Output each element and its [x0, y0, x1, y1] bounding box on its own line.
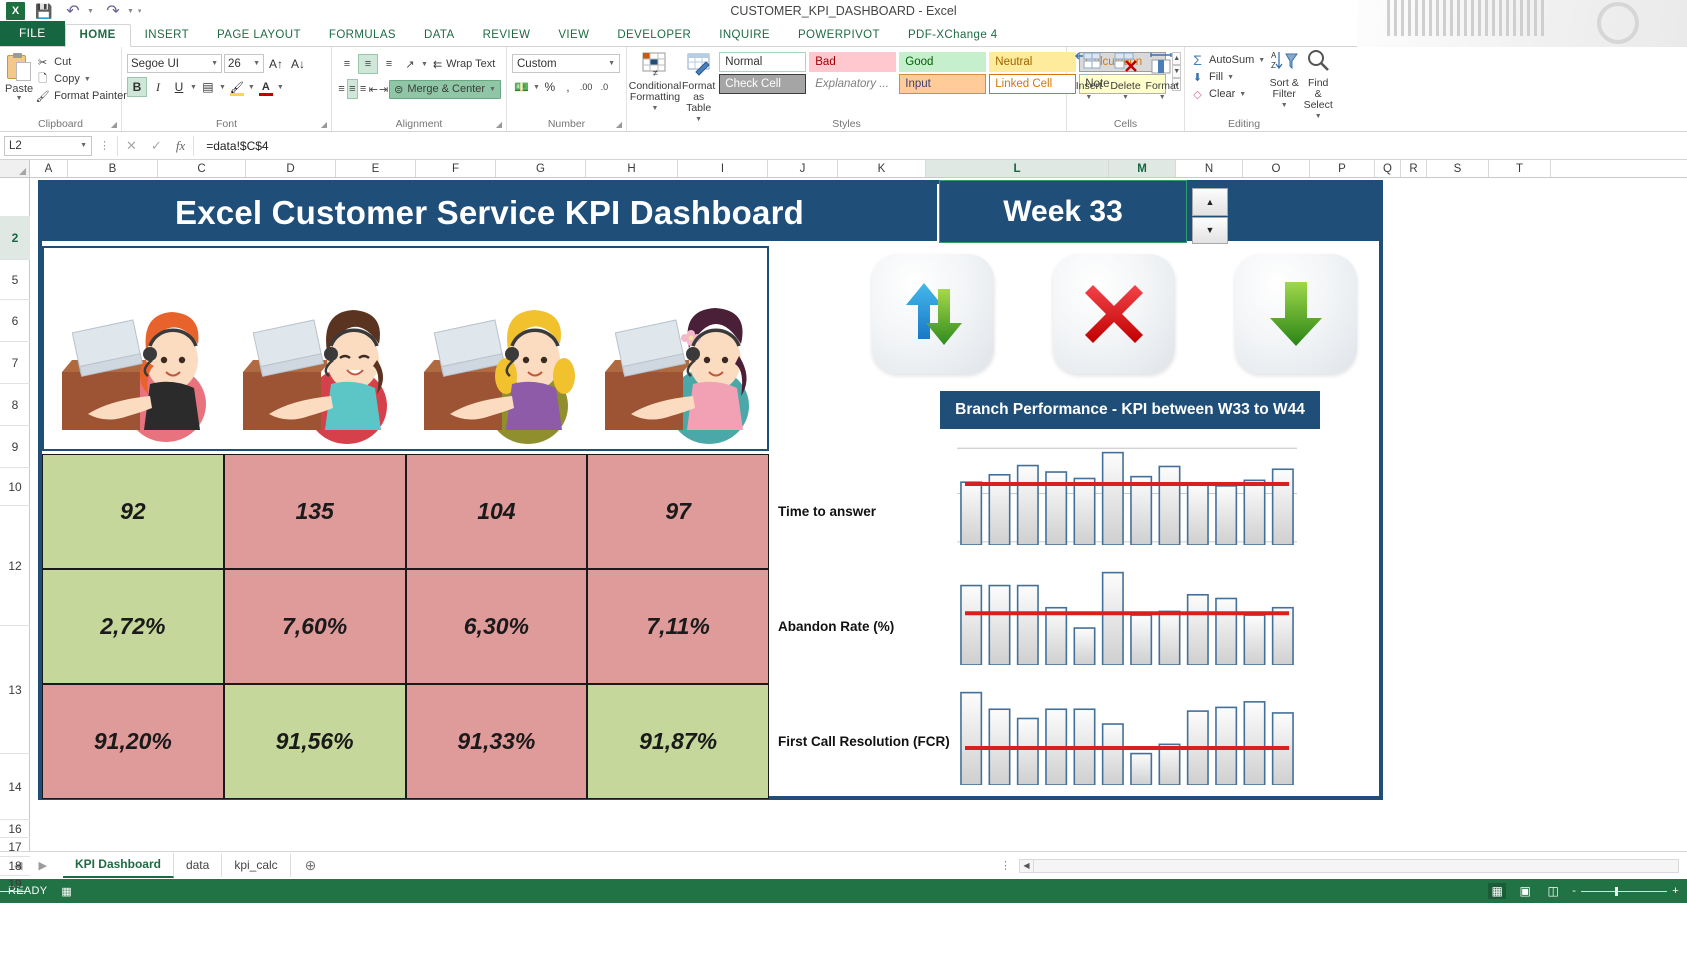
- column-header-a[interactable]: A: [30, 160, 68, 177]
- add-sheet-icon[interactable]: ⊕: [291, 857, 331, 874]
- accounting-dropdown-icon[interactable]: ▼: [533, 84, 540, 91]
- number-dialog-launcher-icon[interactable]: ◢: [616, 120, 622, 129]
- row-header-7[interactable]: 7: [0, 342, 30, 384]
- column-header-d[interactable]: D: [246, 160, 336, 177]
- insert-cells-button[interactable]: Insert ▼: [1072, 52, 1106, 103]
- sheet-tab-bar: ◀ ▶ KPI Dashboard data kpi_calc ⊕ ⋮ ◀: [0, 851, 1687, 879]
- font-color-icon[interactable]: A: [256, 77, 276, 97]
- copy-label: Copy: [54, 73, 80, 85]
- decrease-font-size-icon[interactable]: A↓: [288, 54, 308, 73]
- row-header-16[interactable]: 16: [0, 820, 30, 838]
- hscroll-left-icon[interactable]: ◀: [1020, 860, 1034, 872]
- align-middle-icon[interactable]: ≡: [358, 54, 378, 74]
- sheet-tab-data[interactable]: data: [174, 854, 222, 877]
- name-box-dropdown-icon[interactable]: ▼: [80, 142, 87, 149]
- alignment-dialog-launcher-icon[interactable]: ◢: [496, 120, 502, 129]
- cell-style-check-cell[interactable]: Check Cell: [719, 74, 806, 94]
- column-header-row: ABCDEFGHIJKLMNOPQRST: [0, 160, 1687, 178]
- eraser-icon: ◇: [1190, 87, 1205, 101]
- format-painter-label: Format Painter: [54, 90, 127, 102]
- font-color-dropdown-icon[interactable]: ▼: [277, 84, 284, 91]
- font-size-value: 26: [228, 58, 241, 70]
- number-group-label: Number: [507, 118, 626, 130]
- title-bar: X 💾 ↶ ▼ ↷ ▼ ▾ CUSTOMER_KPI_DASHBOARD - E…: [0, 0, 1687, 22]
- column-header-o[interactable]: O: [1243, 160, 1310, 177]
- increase-decimal-button[interactable]: .00: [578, 77, 595, 97]
- dashboard-title: Excel Customer Service KPI Dashboard: [42, 184, 937, 241]
- styles-group-label: Styles: [627, 118, 1066, 130]
- tab-pdf-xchange[interactable]: PDF-XChange 4: [894, 25, 1012, 46]
- svg-text:A: A: [1271, 51, 1277, 60]
- kpi-row-0: 9213510497: [42, 454, 769, 569]
- sort-filter-icon: A Z: [1269, 49, 1299, 77]
- tab-inquire[interactable]: INQUIRE: [705, 25, 784, 46]
- sheet-canvas[interactable]: Excel Customer Service KPI Dashboard Wee…: [30, 178, 1687, 851]
- align-bottom-icon[interactable]: ≡: [379, 54, 399, 74]
- cells-group-label: Cells: [1067, 118, 1184, 130]
- insert-dropdown-icon[interactable]: ▼: [1085, 92, 1092, 103]
- decrease-indent-icon[interactable]: ⇤: [369, 79, 378, 99]
- column-header-n[interactable]: N: [1176, 160, 1243, 177]
- autosum-dropdown-icon[interactable]: ▼: [1258, 57, 1265, 64]
- wrap-text-label: Wrap Text: [446, 58, 495, 70]
- magnifier-icon: [1303, 49, 1333, 77]
- kpi-label-0: Time to answer: [775, 454, 985, 569]
- horizontal-scrollbar[interactable]: ◀: [1019, 859, 1679, 873]
- kpi-cell-r1-c1[interactable]: 7,60%: [224, 569, 406, 684]
- customize-qat-icon[interactable]: ▾: [138, 7, 142, 15]
- autosum-button[interactable]: Σ AutoSum ▼: [1190, 53, 1265, 67]
- delete-dropdown-icon[interactable]: ▼: [1122, 92, 1129, 103]
- align-top-icon[interactable]: ≡: [337, 54, 357, 74]
- clear-dropdown-icon[interactable]: ▼: [1239, 91, 1246, 98]
- format-as-table-label: Format as Table: [682, 81, 715, 114]
- font-name-dropdown-icon[interactable]: ▼: [211, 60, 218, 67]
- kpi-cell-r2-c1[interactable]: 91,56%: [224, 684, 406, 799]
- insert-label: Insert: [1076, 81, 1102, 92]
- column-header-r[interactable]: R: [1401, 160, 1427, 177]
- font-size-dropdown-icon[interactable]: ▼: [253, 60, 260, 67]
- column-header-c[interactable]: C: [158, 160, 246, 177]
- autosum-label: AutoSum: [1209, 54, 1254, 66]
- orientation-icon[interactable]: ↗: [400, 54, 420, 74]
- agent-avatar-1: [54, 264, 214, 449]
- font-dialog-launcher-icon[interactable]: ◢: [321, 120, 327, 129]
- clear-button[interactable]: ◇ Clear ▼: [1190, 87, 1265, 101]
- tab-data[interactable]: DATA: [410, 25, 469, 46]
- kpi-cell-r0-c0[interactable]: 92: [42, 454, 224, 569]
- format-label: Format: [1146, 81, 1179, 92]
- decrease-decimal-button[interactable]: .0: [596, 77, 612, 97]
- cell-style-normal[interactable]: Normal: [719, 52, 806, 72]
- column-header-m[interactable]: M: [1109, 160, 1176, 177]
- kpi-cell-r0-c2[interactable]: 104: [406, 454, 588, 569]
- row-header-10[interactable]: 10: [0, 468, 30, 506]
- window-title: CUSTOMER_KPI_DASHBOARD - Excel: [0, 4, 1687, 18]
- cell-style-linked-cell[interactable]: Linked Cell: [989, 74, 1076, 94]
- row-header-9[interactable]: 9: [0, 426, 30, 468]
- clipboard-group-label: Clipboard: [0, 118, 121, 130]
- kpi-dashboard: Excel Customer Service KPI Dashboard Wee…: [38, 180, 1383, 800]
- cut-label: Cut: [54, 56, 71, 68]
- agent-avatar-2: [235, 264, 395, 449]
- borders-icon[interactable]: ▤: [198, 77, 218, 97]
- kpi-cell-r0-c3[interactable]: 97: [587, 454, 769, 569]
- kpi-cell-r2-c0[interactable]: 91,20%: [42, 684, 224, 799]
- excel-icon: X: [6, 2, 25, 20]
- sort-filter-label: Sort & Filter: [1269, 78, 1299, 100]
- format-icon: [1147, 52, 1177, 80]
- format-as-table-icon: [684, 52, 714, 80]
- column-header-q[interactable]: Q: [1375, 160, 1401, 177]
- find-select-dropdown-icon[interactable]: ▼: [1315, 111, 1322, 122]
- font-group-label: Font: [122, 118, 331, 130]
- cancel-icon[interactable]: ✕: [126, 138, 137, 154]
- format-cells-button[interactable]: Format ▼: [1145, 52, 1179, 103]
- ribbon-group-cells: Insert ▼ Delete ▼: [1067, 47, 1185, 131]
- fill-label: Fill: [1209, 71, 1223, 83]
- row-header-14[interactable]: 14: [0, 754, 30, 820]
- spinner-down-icon[interactable]: ▼: [1192, 217, 1228, 245]
- increase-font-size-icon[interactable]: A↑: [266, 54, 286, 73]
- wrap-text-button[interactable]: ⇇ Wrap Text: [429, 56, 499, 73]
- row-header-12[interactable]: 12: [0, 506, 30, 626]
- kpi-label-1: Abandon Rate (%): [775, 569, 985, 684]
- week-spinner[interactable]: ▲ ▼: [1192, 188, 1228, 244]
- clear-label: Clear: [1209, 88, 1235, 100]
- kpi-cell-r1-c2[interactable]: 6,30%: [406, 569, 588, 684]
- column-header-f[interactable]: F: [416, 160, 496, 177]
- kpi-row-2: 91,20%91,56%91,33%91,87%: [42, 684, 769, 799]
- week-selector-cell[interactable]: Week 33: [939, 180, 1187, 243]
- column-header-j[interactable]: J: [768, 160, 838, 177]
- delete-cells-button[interactable]: Delete ▼: [1109, 52, 1143, 103]
- fill-color-icon[interactable]: 🖌: [227, 77, 247, 97]
- tab-insert[interactable]: INSERT: [131, 25, 203, 46]
- kpi-cell-r2-c3[interactable]: 91,87%: [587, 684, 769, 799]
- paste-button[interactable]: Paste ▼: [5, 52, 33, 103]
- paste-dropdown-icon[interactable]: ▼: [16, 95, 23, 102]
- accounting-format-icon[interactable]: 💵: [512, 77, 531, 97]
- branch-performance-title: Branch Performance - KPI between W33 to …: [940, 391, 1320, 429]
- row-header-17[interactable]: 17: [0, 838, 30, 857]
- fill-color-dropdown-icon[interactable]: ▼: [248, 84, 255, 91]
- column-header-p[interactable]: P: [1310, 160, 1375, 177]
- alignment-group-label: Alignment: [332, 118, 506, 130]
- row-header-2[interactable]: 2: [0, 216, 30, 260]
- row-header-column: 2567891012131416171819: [0, 178, 30, 851]
- tab-page-layout[interactable]: PAGE LAYOUT: [203, 25, 315, 46]
- ribbon-tab-strip[interactable]: FILE HOME INSERT PAGE LAYOUT FORMULAS DA…: [0, 22, 1687, 47]
- copy-dropdown-icon[interactable]: ▼: [84, 76, 91, 83]
- column-header-l[interactable]: L: [926, 160, 1109, 177]
- tab-view[interactable]: VIEW: [544, 25, 603, 46]
- number-format-select[interactable]: Custom ▼: [512, 54, 620, 73]
- status-icon-row: [842, 246, 1387, 381]
- undo-dropdown-icon[interactable]: ▼: [87, 8, 94, 15]
- zoom-handle[interactable]: [1615, 887, 1618, 896]
- number-format-value: Custom: [517, 58, 557, 70]
- borders-dropdown-icon[interactable]: ▼: [219, 84, 226, 91]
- sparkline-chart-time-to-answer: [957, 442, 1297, 545]
- delete-label: Delete: [1110, 81, 1140, 92]
- column-header-g[interactable]: G: [496, 160, 586, 177]
- cell-style-input[interactable]: Input: [899, 74, 986, 94]
- insert-icon: [1074, 52, 1104, 80]
- normal-view-icon[interactable]: ▦: [1488, 883, 1506, 899]
- ribbon: Paste ▼ ✂ Cut 🗋 Copy ▼ 🖌 Format Painter: [0, 47, 1687, 132]
- font-name-value: Segoe UI: [131, 58, 179, 70]
- record-macro-icon[interactable]: ▦: [61, 885, 72, 898]
- font-name-input[interactable]: Segoe UI ▼: [127, 54, 222, 73]
- tab-split-grip[interactable]: ⋮: [1000, 859, 1011, 872]
- cell-style-neutral[interactable]: Neutral: [989, 52, 1076, 72]
- paste-icon: [5, 52, 33, 82]
- sigma-icon: Σ: [1190, 53, 1205, 67]
- tab-formulas[interactable]: FORMULAS: [315, 25, 410, 46]
- wrap-text-icon: ⇇: [433, 58, 442, 71]
- format-dropdown-icon[interactable]: ▼: [1159, 92, 1166, 103]
- tab-home[interactable]: HOME: [65, 24, 131, 47]
- insert-function-icon[interactable]: fx: [176, 138, 185, 154]
- green-down-arrow-icon[interactable]: [1235, 254, 1357, 374]
- column-header-h[interactable]: H: [586, 160, 678, 177]
- clipboard-dialog-launcher-icon[interactable]: ◢: [111, 120, 117, 129]
- underline-button[interactable]: U: [169, 77, 189, 97]
- conditional-formatting-button[interactable]: ≠ Conditional Formatting ▼: [632, 52, 678, 114]
- cut-button[interactable]: ✂ Cut: [35, 55, 127, 69]
- ribbon-group-number: Custom ▼ 💵 ▼ % , .00 .0 Number ◢: [507, 47, 627, 131]
- cell-style-good[interactable]: Good: [899, 52, 986, 72]
- kpi-label-2: First Call Resolution (FCR): [775, 684, 985, 799]
- svg-text:Z: Z: [1271, 61, 1276, 70]
- paste-label: Paste: [5, 83, 33, 95]
- kpi-cell-r0-c1[interactable]: 135: [224, 454, 406, 569]
- column-header-i[interactable]: I: [678, 160, 768, 177]
- zoom-in-icon[interactable]: +: [1672, 885, 1679, 897]
- cell-style-bad[interactable]: Bad: [809, 52, 896, 72]
- zoom-out-icon[interactable]: -: [1572, 885, 1576, 897]
- format-as-table-button[interactable]: Format as Table ▼: [682, 52, 715, 125]
- ribbon-group-editing: Σ AutoSum ▼ ⬇ Fill ▼ ◇ Clear ▼: [1185, 47, 1303, 131]
- name-box-value: L2: [9, 140, 22, 152]
- tab-file[interactable]: FILE: [0, 21, 65, 46]
- paintbrush-icon: 🖌: [35, 89, 50, 103]
- formula-bar-grip[interactable]: ⋮: [96, 139, 113, 152]
- fill-down-icon: ⬇: [1190, 70, 1205, 84]
- conditional-formatting-label: Conditional Formatting: [629, 81, 682, 103]
- ribbon-group-styles: ≠ Conditional Formatting ▼: [627, 47, 1067, 131]
- italic-button[interactable]: I: [148, 77, 168, 97]
- red-x-icon[interactable]: [1053, 254, 1175, 374]
- underline-dropdown-icon[interactable]: ▼: [190, 84, 197, 91]
- cell-style-explanatory[interactable]: Explanatory ...: [809, 74, 896, 94]
- scissors-icon: ✂: [35, 55, 50, 69]
- align-left-icon[interactable]: ≡: [337, 79, 346, 99]
- format-painter-button[interactable]: 🖌 Format Painter: [35, 89, 127, 103]
- zoom-slider[interactable]: - +: [1572, 885, 1679, 897]
- agents-illustration-panel: [42, 246, 769, 451]
- find-select-button[interactable]: Find & Select ▼: [1303, 49, 1333, 122]
- ribbon-group-clipboard: Paste ▼ ✂ Cut 🗋 Copy ▼ 🖌 Format Painter: [0, 47, 122, 131]
- column-header-e[interactable]: E: [336, 160, 416, 177]
- orientation-dropdown-icon[interactable]: ▼: [421, 61, 428, 68]
- row-header-18[interactable]: 18: [0, 857, 30, 876]
- merge-center-icon: ⊜: [394, 83, 403, 96]
- next-sheet-icon[interactable]: ▶: [38, 859, 46, 872]
- row-header-6[interactable]: 6: [0, 300, 30, 342]
- percent-style-button[interactable]: %: [542, 77, 558, 97]
- tab-developer[interactable]: DEVELOPER: [603, 25, 705, 46]
- delete-icon: [1111, 52, 1141, 80]
- row-header-8[interactable]: 8: [0, 384, 30, 426]
- column-header-s[interactable]: S: [1427, 160, 1489, 177]
- kpi-cell-r2-c2[interactable]: 91,33%: [406, 684, 588, 799]
- conditional-formatting-icon: ≠: [640, 52, 670, 80]
- merge-center-dropdown-icon[interactable]: ▼: [489, 86, 496, 93]
- select-all-button[interactable]: [0, 160, 30, 177]
- copy-button[interactable]: 🗋 Copy ▼: [35, 72, 127, 86]
- agent-avatar-4: [597, 264, 757, 449]
- kpi-row-1: 2,72%7,60%6,30%7,11%: [42, 569, 769, 684]
- column-header-t[interactable]: T: [1489, 160, 1551, 177]
- confirm-icon[interactable]: ✓: [151, 138, 162, 154]
- quick-access-toolbar[interactable]: X 💾 ↶ ▼ ↷ ▼ ▾: [0, 2, 141, 20]
- row-header-5[interactable]: 5: [0, 260, 30, 300]
- spinner-up-icon[interactable]: ▲: [1192, 188, 1228, 216]
- find-select-label: Find & Select: [1303, 78, 1333, 111]
- editing-group-label: Editing: [1185, 118, 1303, 130]
- save-icon[interactable]: 💾: [34, 2, 54, 20]
- name-box[interactable]: L2 ▼: [4, 136, 92, 156]
- copy-icon: 🗋: [35, 72, 50, 86]
- align-right-icon[interactable]: ≡: [359, 79, 368, 99]
- sparkline-chart-fcr: [957, 682, 1297, 785]
- font-size-input[interactable]: 26 ▼: [224, 54, 264, 73]
- formula-bar: L2 ▼ ⋮ ✕ ✓ fx =data!$C$4: [0, 132, 1687, 160]
- fill-button[interactable]: ⬇ Fill ▼: [1190, 70, 1265, 84]
- row-header-13[interactable]: 13: [0, 626, 30, 754]
- worksheet-grid: 2567891012131416171819 Excel Customer Se…: [0, 178, 1687, 851]
- kpi-cell-r1-c3[interactable]: 7,11%: [587, 569, 769, 684]
- sort-filter-dropdown-icon[interactable]: ▼: [1281, 100, 1288, 111]
- align-center-icon[interactable]: ≡: [347, 79, 357, 99]
- sheet-tab-kpi-dashboard[interactable]: KPI Dashboard: [63, 853, 174, 878]
- tab-powerpivot[interactable]: POWERPIVOT: [784, 25, 894, 46]
- redo-dropdown-icon[interactable]: ▼: [127, 8, 134, 15]
- ribbon-group-alignment: ≡ ≡ ≡ ↗ ▼ ⇇ Wrap Text ≡ ≡ ≡ ⇤ ⇥ ⊜ Merge …: [332, 47, 507, 131]
- undo-icon[interactable]: ↶: [63, 2, 83, 20]
- redo-icon[interactable]: ↷: [103, 2, 123, 20]
- sort-filter-button[interactable]: A Z Sort & Filter ▼: [1269, 49, 1299, 111]
- tab-review[interactable]: REVIEW: [469, 25, 545, 46]
- kpi-value-grid: 92135104972,72%7,60%6,30%7,11%91,20%91,5…: [42, 454, 769, 799]
- conditional-formatting-dropdown-icon[interactable]: ▼: [652, 103, 659, 114]
- up-down-arrows-icon[interactable]: [872, 254, 994, 374]
- page-layout-icon[interactable]: ▣: [1516, 883, 1534, 899]
- bold-button[interactable]: B: [127, 77, 147, 97]
- column-header-b[interactable]: B: [68, 160, 158, 177]
- merge-center-label: Merge & Center: [407, 83, 485, 95]
- number-format-dropdown-icon[interactable]: ▼: [608, 60, 615, 67]
- sparkline-chart-abandon-rate: [957, 562, 1297, 665]
- comma-style-button[interactable]: ,: [560, 77, 576, 97]
- fill-dropdown-icon[interactable]: ▼: [1227, 74, 1234, 81]
- status-bar: READY ▦ ▦ ▣ ◫ - +: [0, 879, 1687, 903]
- column-header-k[interactable]: K: [838, 160, 926, 177]
- increase-indent-icon[interactable]: ⇥: [379, 79, 388, 99]
- ribbon-group-font: Segoe UI ▼ 26 ▼ A↑ A↓ B I U ▼ ▤ ▼ 🖌 ▼ A: [122, 47, 332, 131]
- kpi-label-column: Time to answerAbandon Rate (%)First Call…: [775, 454, 985, 799]
- formula-input[interactable]: =data!$C$4: [198, 136, 1683, 156]
- row-header-19[interactable]: 19: [0, 876, 30, 892]
- svg-text:≠: ≠: [653, 68, 658, 78]
- kpi-cell-r1-c0[interactable]: 2,72%: [42, 569, 224, 684]
- agent-avatar-3: [416, 264, 576, 449]
- sheet-tab-kpi-calc[interactable]: kpi_calc: [222, 854, 290, 877]
- page-break-icon[interactable]: ◫: [1544, 883, 1562, 899]
- merge-center-button[interactable]: ⊜ Merge & Center ▼: [389, 80, 501, 99]
- help-icon[interactable]: ?: [1675, 1, 1681, 13]
